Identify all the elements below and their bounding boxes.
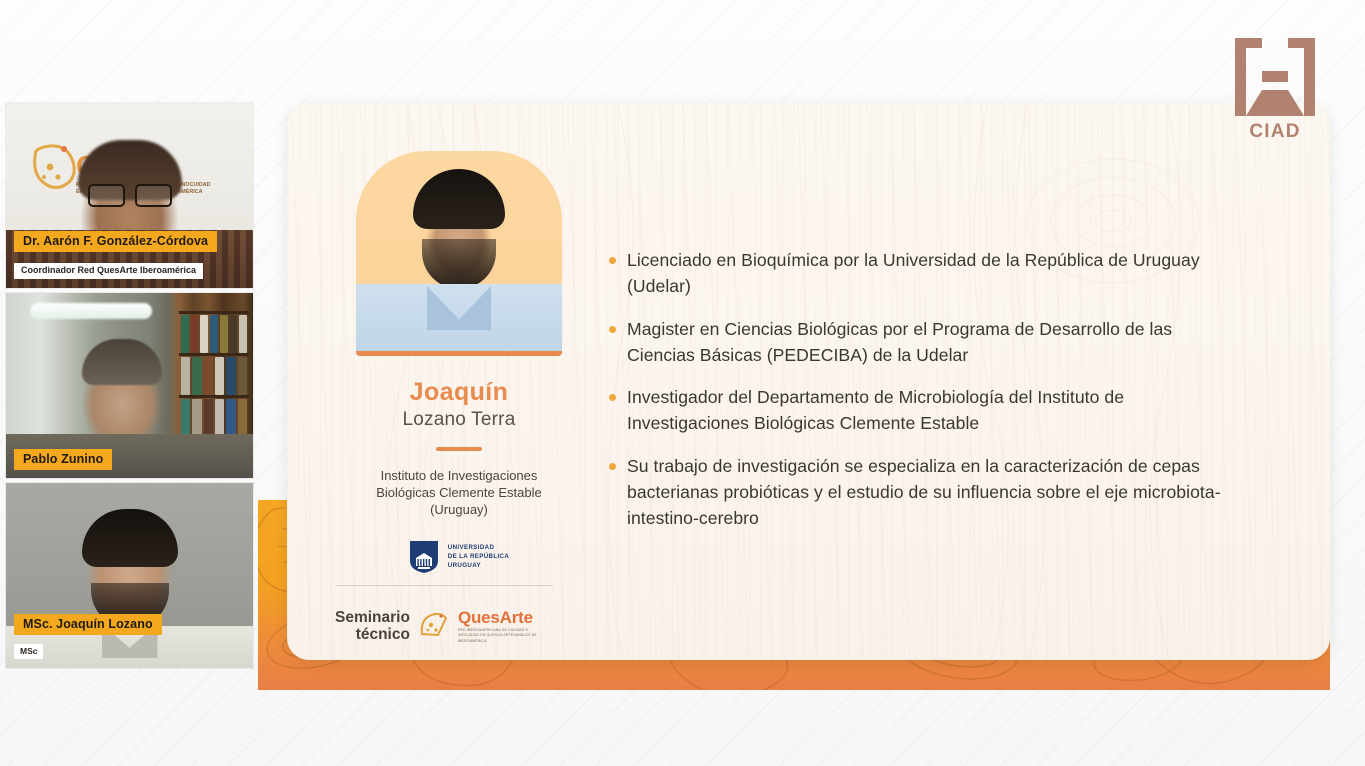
bullet-item: Su trabajo de investigación se especiali…	[609, 454, 1223, 532]
bullet-dot-icon	[609, 463, 616, 470]
udelar-line-3: URUGUAY	[448, 562, 509, 571]
glasses-icon	[88, 184, 172, 204]
udelar-logo: UNIVERSIDAD DE LA REPÚBLICA URUGUAY	[409, 540, 509, 574]
speaker-first-name: Joaquín	[410, 378, 509, 407]
bullet-text: Magister en Ciencias Biológicas por el P…	[627, 317, 1223, 369]
speaker-last-name: Lozano Terra	[403, 409, 516, 431]
ceiling-light	[30, 303, 152, 319]
speaker-affiliation: Instituto de Investigaciones Biológicas …	[376, 467, 541, 518]
bullet-item: Licenciado en Bioquímica por la Universi…	[609, 248, 1223, 300]
seminar-label: Seminario técnico	[335, 609, 410, 643]
bullet-item: Investigador del Departamento de Microbi…	[609, 385, 1223, 437]
participant-name-label: Dr. Aarón F. González-Córdova	[14, 231, 217, 253]
participant-hair	[82, 339, 162, 385]
ciad-mark-icon	[1235, 38, 1315, 116]
name-divider	[436, 447, 482, 451]
udelar-logo-text: UNIVERSIDAD DE LA REPÚBLICA URUGUAY	[448, 544, 509, 570]
participant-tile-joaquin-lozano[interactable]: MSc. Joaquín Lozano MSc	[6, 483, 253, 668]
participant-degree-badge: MSc	[14, 644, 43, 660]
bullet-text: Licenciado en Bioquímica por la Universi…	[627, 248, 1223, 300]
participant-name-label: Pablo Zunino	[14, 449, 112, 471]
cheese-wedge-icon	[419, 611, 449, 641]
udelar-shield-icon	[409, 540, 439, 574]
card-divider	[335, 585, 553, 586]
slide-bullet-list: Licenciado en Bioquímica por la Universi…	[609, 248, 1223, 549]
video-feed: Q rte RED IBEROAMERICANA DE CALIDAD E IN…	[6, 103, 253, 288]
quesarte-brand: QuesArte	[458, 608, 550, 628]
participant-subtitle-label: Coordinador Red QuesArte Iberoamérica	[14, 263, 203, 279]
speaker-profile: Joaquín Lozano Terra Instituto de Invest…	[335, 151, 583, 574]
ciad-logo: CIAD	[1232, 38, 1318, 143]
bullet-dot-icon	[609, 326, 616, 333]
bullet-dot-icon	[609, 394, 616, 401]
participant-tile-pablo-zunino[interactable]: Pablo Zunino	[6, 293, 253, 478]
quesarte-tagline: RED IBEROAMERICANA DE CALIDAD E INOCUIDA…	[458, 628, 550, 644]
seminar-logo: Seminario técnico QuesArte RED IBEROAMER…	[335, 608, 550, 644]
participant-video-grid: Q rte RED IBEROAMERICANA DE CALIDAD E IN…	[6, 103, 253, 673]
video-feed	[6, 483, 253, 668]
affiliation-line-1: Instituto de Investigaciones	[376, 467, 541, 484]
ciad-wordmark: CIAD	[1232, 121, 1318, 143]
affiliation-line-2: Biológicas Clemente Estable	[376, 484, 541, 501]
affiliation-line-3: (Uruguay)	[376, 501, 541, 518]
participant-hair	[82, 509, 178, 567]
bullet-item: Magister en Ciencias Biológicas por el P…	[609, 317, 1223, 369]
seminar-line-2: técnico	[335, 626, 410, 643]
presentation-slide: Joaquín Lozano Terra Instituto de Invest…	[287, 103, 1330, 660]
portrait-underline	[356, 351, 562, 356]
bullet-dot-icon	[609, 257, 616, 264]
ciad-glyph-icon	[1235, 38, 1315, 116]
seminar-line-1: Seminario	[335, 609, 410, 626]
participant-tile-aaron-gonzalez-cordova[interactable]: Q rte RED IBEROAMERICANA DE CALIDAD E IN…	[6, 103, 253, 288]
participant-name-label: MSc. Joaquín Lozano	[14, 614, 162, 636]
speaker-portrait	[356, 151, 562, 356]
bullet-text: Su trabajo de investigación se especiali…	[627, 454, 1223, 532]
bullet-text: Investigador del Departamento de Microbi…	[627, 385, 1223, 437]
udelar-line-2: DE LA REPÚBLICA	[448, 553, 509, 562]
udelar-line-1: UNIVERSIDAD	[448, 544, 509, 553]
